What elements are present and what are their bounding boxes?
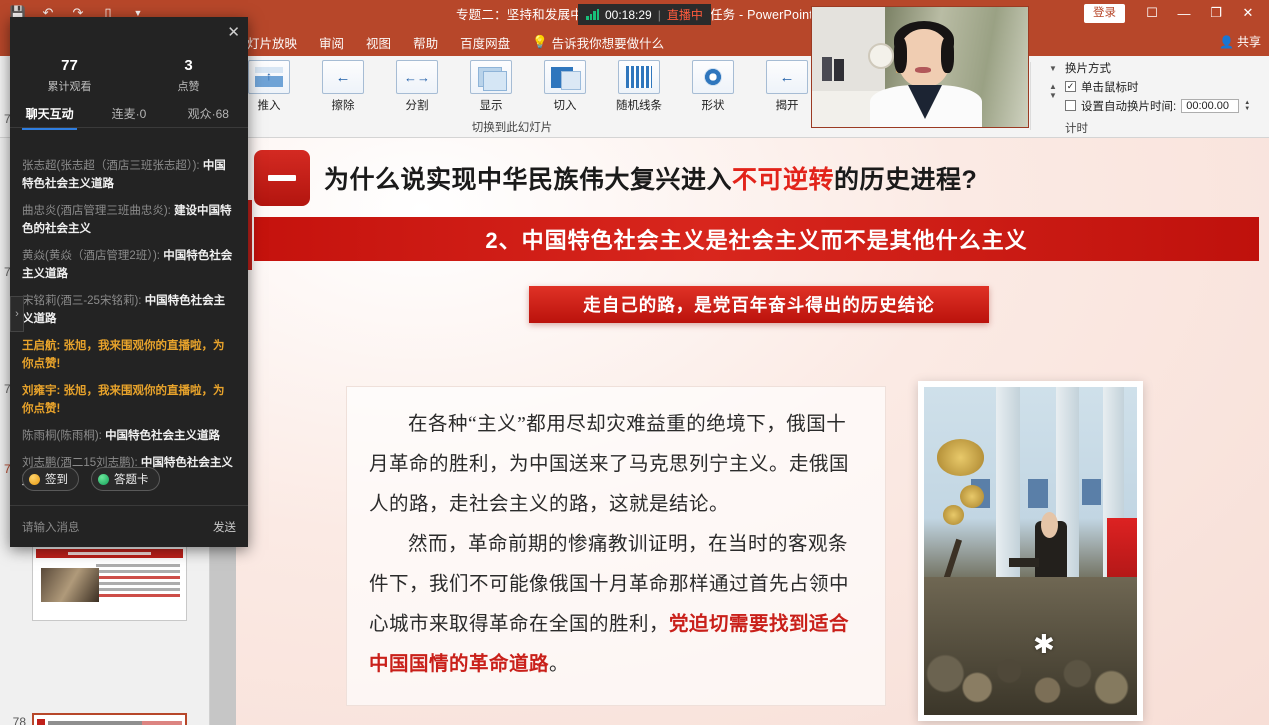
advance-after-row[interactable]: 设置自动换片时间: 00:00.00 ▲▼	[1039, 96, 1269, 115]
timing-group-label: 计时	[1065, 120, 1088, 136]
quiz-dot-icon	[98, 474, 109, 485]
transition-wipe[interactable]: ← 擦除	[306, 60, 380, 113]
share-label: 共享	[1237, 33, 1261, 50]
signin-dot-icon	[29, 474, 40, 485]
tab-audience[interactable]: 观众·68	[169, 105, 248, 122]
restore-icon[interactable]: ❐	[1201, 2, 1231, 24]
slide-subtitle-band: 2、中国特色社会主义是社会主义而不是其他什么主义	[254, 217, 1259, 261]
window-controls: 登录 ☐ — ❐ ✕	[1084, 2, 1263, 24]
chip-signin[interactable]: 签到	[22, 467, 79, 491]
stat-likes-value: 3	[129, 57, 248, 74]
duration-spinner-icon[interactable]: ▲▼	[1049, 82, 1057, 100]
transition-split[interactable]: ←→ 分割	[380, 60, 454, 113]
stat-total-views: 77 累计观看	[10, 57, 129, 94]
live-status-text: 直播中	[667, 6, 703, 23]
transition-wipe-label: 擦除	[332, 97, 355, 113]
paragraph-2-end: 。	[549, 654, 569, 675]
live-separator: |	[658, 8, 661, 22]
chat-input-row[interactable]: 请输入消息 发送	[10, 505, 248, 547]
transition-shape[interactable]: 形状	[676, 60, 750, 113]
chat-message-highlight: 刘雍宇: 张旭，我来围观你的直播啦，为你点赞!	[22, 382, 236, 418]
random-bars-transition-icon	[618, 60, 660, 94]
advance-slide-heading: 换片方式	[1039, 58, 1269, 77]
chat-message-author: 黄焱(黄焱（酒店管理2班）):	[22, 250, 160, 262]
chat-message-text: 中国特色社会主义道路	[105, 430, 220, 442]
tab-comic[interactable]: 连麦·0	[89, 105, 168, 122]
tab-view[interactable]: 视图	[366, 33, 391, 52]
auto-advance-time-input[interactable]: 00:00.00	[1181, 99, 1239, 113]
signal-bars-icon	[586, 9, 599, 20]
chat-action-chips[interactable]: 签到 答题卡	[22, 467, 160, 491]
tab-baidu-netdisk[interactable]: 百度网盘	[460, 33, 510, 52]
transition-group-label: 切换到此幻灯片	[232, 119, 792, 135]
advance-on-click-row[interactable]: ✓ 单击鼠标时	[1039, 77, 1269, 96]
on-click-checkbox[interactable]: ✓	[1065, 81, 1076, 92]
transition-shape-label: 形状	[702, 97, 725, 113]
tab-help[interactable]: 帮助	[413, 33, 438, 52]
chat-message: 陈雨桐(陈雨桐): 中国特色社会主义道路	[22, 427, 236, 445]
chat-stats: 77 累计观看 3 点赞	[10, 17, 248, 100]
stat-likes-label: 点赞	[129, 78, 248, 94]
push-transition-icon: ↑	[248, 60, 290, 94]
slide-body-text[interactable]: 在各种“主义”都用尽却灾难益重的绝境下，俄国十月革命的胜利，为中国送来了马克思列…	[346, 386, 886, 706]
live-timer: 00:18:29	[605, 8, 652, 22]
painting-artwork	[924, 387, 1137, 715]
slide-title-row: 为什么说实现中华民族伟大复兴进入不可逆转的历史进程?	[254, 150, 1259, 206]
presenter-webcam-overlay[interactable]	[811, 6, 1029, 128]
webcam-person-mouth	[915, 67, 931, 73]
slide-subtitle: 2、中国特色社会主义是社会主义而不是其他什么主义	[485, 223, 1027, 255]
stat-likes: 3 点赞	[129, 57, 248, 94]
transition-reveal[interactable]: 显示	[454, 60, 528, 113]
slide-paragraph-1: 在各种“主义”都用尽却灾难益重的绝境下，俄国十月革命的胜利，为中国送来了马克思列…	[369, 405, 863, 525]
chat-message-author: 刘雍宇:	[22, 385, 60, 397]
chat-send-button[interactable]: 发送	[213, 519, 236, 535]
webcam-book-2	[834, 59, 844, 81]
chat-message: 宋铭莉(酒三-25宋铭莉): 中国特色社会主义道路	[22, 292, 236, 328]
on-click-label: 单击鼠标时	[1081, 79, 1139, 95]
slide-quote-pill: 走自己的路，是党百年奋斗得出的历史结论	[529, 286, 989, 323]
uncover-transition-icon: ←	[766, 60, 808, 94]
ribbon-display-options-icon[interactable]: ☐	[1137, 2, 1167, 24]
slide-editing-stage[interactable]: 为什么说实现中华民族伟大复兴进入不可逆转的历史进程? 2、中国特色社会主义是社会…	[210, 138, 1269, 725]
wipe-transition-icon: ←	[322, 60, 364, 94]
live-chat-panel[interactable]: ✕ 77 累计观看 3 点赞 聊天互动 连麦·0 观众·68 张志超(张志超（酒…	[10, 17, 248, 547]
chat-panel-edge-accent	[248, 200, 252, 270]
transition-push-label: 推入	[258, 97, 281, 113]
tab-chat[interactable]: 聊天互动	[10, 105, 89, 122]
transition-uncover-label: 揭开	[776, 97, 799, 113]
transition-cut-label: 切入	[554, 97, 577, 113]
slide-thumbnail-78[interactable]	[32, 713, 187, 725]
slide-quote-text: 走自己的路，是党百年奋斗得出的历史结论	[583, 292, 935, 317]
share-button[interactable]: 👤 共享	[1219, 33, 1261, 50]
close-icon[interactable]: ✕	[1233, 2, 1263, 24]
webcam-clock-icon	[868, 43, 894, 69]
chat-message: 曲忠炎(酒店管理三班曲忠炎): 建设中国特色的社会主义	[22, 202, 236, 238]
tell-me-label: 告诉我你想要做什么	[552, 33, 665, 52]
powerpoint-live-screen: 💾 ↶ ↷ ▯ ▼ 专题二：坚持和发展中国特色社会主义的基本任务 - Power…	[0, 0, 1269, 725]
chip-signin-label: 签到	[45, 471, 68, 487]
title-prefix: 为什么说实现中华民族伟大复兴进入	[324, 166, 732, 194]
auto-advance-label: 设置自动换片时间:	[1081, 98, 1176, 114]
chip-quiz-card[interactable]: 答题卡	[91, 467, 160, 491]
chat-message-author: 张志超(张志超（酒店三班张志超）):	[22, 160, 200, 172]
transition-split-label: 分割	[406, 97, 429, 113]
animation-marker-icon: ✱	[1033, 629, 1055, 660]
slide-paragraph-2: 然而，革命前期的惨痛教训证明，在当时的客观条件下，我们不可能像俄国十月革命那样通…	[369, 525, 863, 685]
effect-options-dropdown-icon[interactable]: ▼	[1049, 64, 1057, 73]
live-status-badge[interactable]: 00:18:29 | 直播中	[578, 4, 711, 25]
title-highlight: 不可逆转	[732, 166, 834, 194]
webcam-person-hair-left	[894, 37, 907, 73]
chat-input[interactable]: 请输入消息	[22, 519, 80, 535]
thumb-photo	[41, 568, 99, 602]
webcam-book	[822, 57, 832, 81]
current-slide[interactable]: 为什么说实现中华民族伟大复兴进入不可逆转的历史进程? 2、中国特色社会主义是社会…	[236, 138, 1269, 725]
tab-review[interactable]: 审阅	[319, 33, 344, 52]
auto-advance-spinner-icon[interactable]: ▲▼	[1244, 100, 1250, 112]
chat-message-author: 宋铭莉(酒三-25宋铭莉):	[22, 295, 141, 307]
auto-advance-checkbox[interactable]	[1065, 100, 1076, 111]
chat-message-author: 王启航:	[22, 340, 60, 352]
slide-number-78: 78	[0, 713, 26, 725]
lightbulb-icon: 💡	[532, 35, 548, 50]
transition-random-bars[interactable]: 随机线条	[602, 60, 676, 113]
thumb-badge-icon	[37, 719, 45, 725]
chat-message: 张志超(张志超（酒店三班张志超）): 中国特色社会主义道路	[22, 157, 236, 193]
chat-message: 黄焱(黄焱（酒店管理2班）): 中国特色社会主义道路	[22, 247, 236, 283]
cut-transition-icon	[544, 60, 586, 94]
stat-total-views-value: 77	[10, 57, 129, 74]
title-number-badge-icon	[254, 150, 310, 206]
chat-message-author: 曲忠炎(酒店管理三班曲忠炎):	[22, 205, 171, 217]
chat-message-highlight: 王启航: 张旭，我来围观你的直播啦，为你点赞!	[22, 337, 236, 373]
shape-transition-icon	[692, 60, 734, 94]
login-button[interactable]: 登录	[1084, 4, 1125, 23]
chat-tab-strip[interactable]: 聊天互动 连麦·0 观众·68	[10, 100, 248, 128]
webcam-person-hair-right	[941, 37, 954, 73]
stat-total-views-label: 累计观看	[10, 78, 129, 94]
split-transition-icon: ←→	[396, 60, 438, 94]
timing-group: ▼ ▲▼ 换片方式 ✓ 单击鼠标时 设置自动换片时间: 00:00.00 ▲▼ …	[1039, 58, 1269, 115]
chip-quiz-label: 答题卡	[114, 471, 149, 487]
transition-random-bars-label: 随机线条	[616, 97, 662, 113]
chat-panel-expand-handle[interactable]: ›	[10, 296, 24, 332]
title-suffix: 的历史进程?	[834, 166, 977, 194]
chat-message-list[interactable]: 张志超(张志超（酒店三班张志超）): 中国特色社会主义道路 曲忠炎(酒店管理三班…	[10, 157, 248, 487]
transition-reveal-label: 显示	[480, 97, 503, 113]
tell-me-search[interactable]: 💡 告诉我你想要做什么	[532, 33, 664, 52]
chat-message-author: 陈雨桐(陈雨桐):	[22, 430, 102, 442]
transition-cut[interactable]: 切入	[528, 60, 602, 113]
transition-gallery[interactable]: ↑ 推入 ← 擦除 ←→ 分割 显示	[232, 60, 824, 113]
reveal-transition-icon	[470, 60, 512, 94]
page-title: 为什么说实现中华民族伟大复兴进入不可逆转的历史进程?	[324, 160, 977, 196]
close-icon[interactable]: ✕	[227, 23, 240, 41]
thumbnail-row-selected[interactable]: 78	[0, 713, 210, 725]
slide-image-lenin-painting[interactable]: ✱	[918, 381, 1143, 721]
person-add-icon: 👤	[1219, 35, 1234, 49]
minimize-icon[interactable]: —	[1169, 2, 1199, 24]
